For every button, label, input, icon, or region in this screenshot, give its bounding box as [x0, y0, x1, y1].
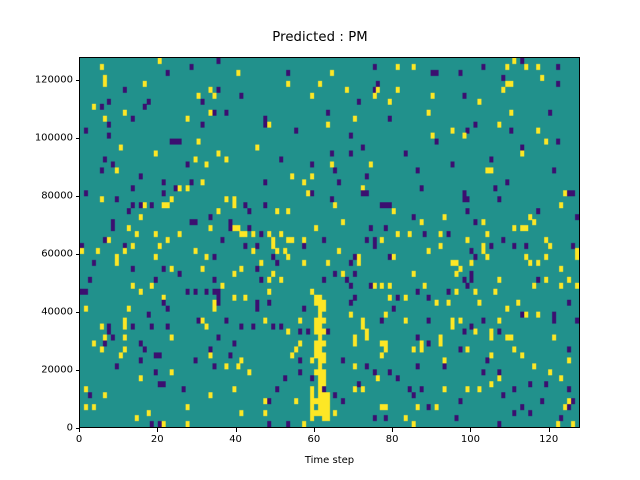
y-axis-label-holder: Frequency (Hz): [16, 57, 30, 428]
y-tick-label: 120000: [35, 75, 73, 86]
x-tick-mark: [392, 428, 393, 432]
x-tick-mark: [79, 428, 80, 432]
x-tick-mark: [236, 428, 237, 432]
y-tick-mark: [76, 138, 80, 139]
y-tick-label: 0: [67, 423, 73, 434]
heatmap-image: [80, 58, 579, 427]
y-axis-ticks: 020000400006000080000100000120000: [31, 57, 79, 428]
y-tick-mark: [76, 196, 80, 197]
x-tick-mark: [157, 428, 158, 432]
x-tick-label: 120: [539, 434, 558, 445]
y-tick-mark: [76, 370, 80, 371]
y-tick-label: 100000: [35, 133, 73, 144]
x-tick-mark: [549, 428, 550, 432]
y-tick-mark: [76, 254, 80, 255]
x-axis-label: Time step: [79, 455, 580, 466]
x-tick-label: 40: [229, 434, 242, 445]
y-tick-mark: [76, 80, 80, 81]
y-tick-mark: [76, 312, 80, 313]
heatmap-axes[interactable]: [79, 57, 580, 428]
figure-canvas: Predicted : PM 0200004000060000800001000…: [0, 0, 640, 480]
y-tick-label: 60000: [41, 249, 73, 260]
y-tick-label: 40000: [41, 307, 73, 318]
y-tick-label: 80000: [41, 191, 73, 202]
x-tick-label: 80: [386, 434, 399, 445]
x-tick-label: 100: [461, 434, 480, 445]
x-axis-ticks: 020406080100120: [79, 428, 580, 450]
x-tick-label: 0: [76, 434, 82, 445]
chart-title: Predicted : PM: [0, 30, 640, 45]
x-tick-label: 20: [151, 434, 164, 445]
x-tick-label: 60: [307, 434, 320, 445]
x-tick-mark: [470, 428, 471, 432]
x-tick-mark: [314, 428, 315, 432]
y-tick-label: 20000: [41, 365, 73, 376]
